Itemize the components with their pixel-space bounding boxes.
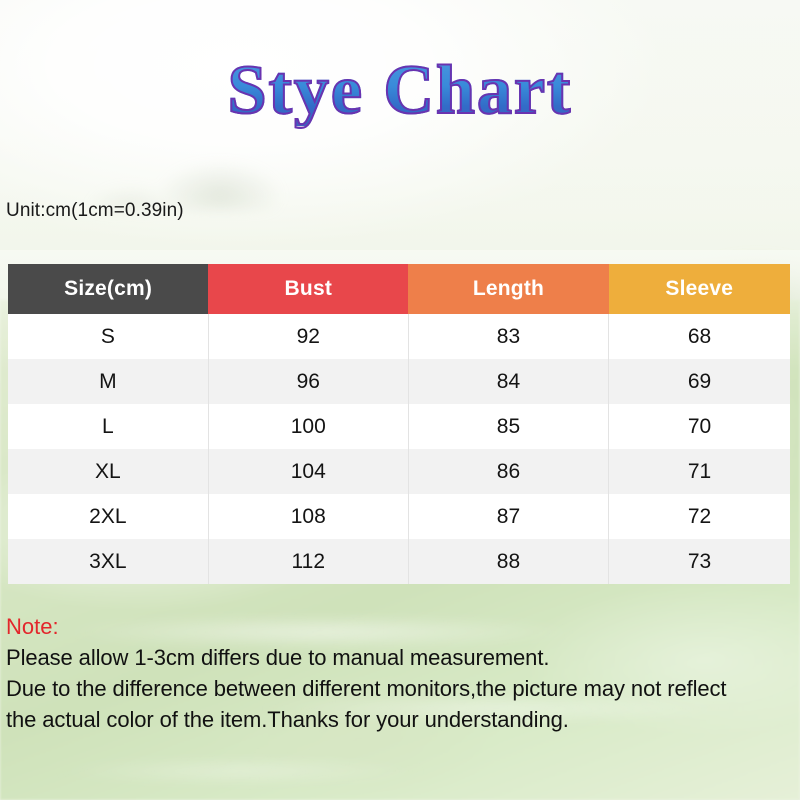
size-chart-page: Stye Chart Unit:cm(1cm=0.39in) Size(cm) … — [0, 0, 800, 800]
cell-bust: 112 — [208, 539, 408, 584]
cell-length: 86 — [408, 449, 608, 494]
size-table-container: Size(cm) Bust Length Sleeve S 92 83 68 M… — [8, 264, 790, 584]
note-line-2: Due to the difference between different … — [6, 673, 794, 704]
size-table: Size(cm) Bust Length Sleeve S 92 83 68 M… — [8, 264, 790, 584]
cell-length: 85 — [408, 404, 608, 449]
cell-bust: 100 — [208, 404, 408, 449]
cell-size: L — [8, 404, 208, 449]
cell-length: 88 — [408, 539, 608, 584]
page-title-container: Stye Chart — [0, 56, 800, 126]
cell-size: 2XL — [8, 494, 208, 539]
column-header-length: Length — [408, 264, 608, 314]
table-row: S 92 83 68 — [8, 314, 790, 359]
note-heading: Note: — [6, 612, 794, 642]
cell-sleeve: 68 — [609, 314, 790, 359]
cell-sleeve: 70 — [609, 404, 790, 449]
table-row: L 100 85 70 — [8, 404, 790, 449]
cell-sleeve: 73 — [609, 539, 790, 584]
table-row: XL 104 86 71 — [8, 449, 790, 494]
cell-length: 83 — [408, 314, 608, 359]
cell-sleeve: 71 — [609, 449, 790, 494]
table-row: 3XL 112 88 73 — [8, 539, 790, 584]
column-header-bust: Bust — [208, 264, 408, 314]
note-line-3: the actual color of the item.Thanks for … — [6, 704, 794, 735]
unit-note: Unit:cm(1cm=0.39in) — [6, 200, 184, 222]
cell-sleeve: 69 — [609, 359, 790, 404]
cell-size: 3XL — [8, 539, 208, 584]
cell-bust: 92 — [208, 314, 408, 359]
size-table-body: S 92 83 68 M 96 84 69 L 100 85 70 — [8, 314, 790, 584]
table-row: M 96 84 69 — [8, 359, 790, 404]
page-title: Stye Chart — [228, 56, 573, 126]
column-header-size: Size(cm) — [8, 264, 208, 314]
header-row: Size(cm) Bust Length Sleeve — [8, 264, 790, 314]
cell-size: M — [8, 359, 208, 404]
column-header-sleeve: Sleeve — [609, 264, 790, 314]
cell-bust: 96 — [208, 359, 408, 404]
cell-bust: 108 — [208, 494, 408, 539]
cell-bust: 104 — [208, 449, 408, 494]
cell-length: 84 — [408, 359, 608, 404]
cell-length: 87 — [408, 494, 608, 539]
size-table-header: Size(cm) Bust Length Sleeve — [8, 264, 790, 314]
cell-sleeve: 72 — [609, 494, 790, 539]
note-block: Note: Please allow 1-3cm differs due to … — [6, 612, 794, 735]
cell-size: XL — [8, 449, 208, 494]
table-row: 2XL 108 87 72 — [8, 494, 790, 539]
note-line-1: Please allow 1-3cm differs due to manual… — [6, 642, 794, 673]
cell-size: S — [8, 314, 208, 359]
